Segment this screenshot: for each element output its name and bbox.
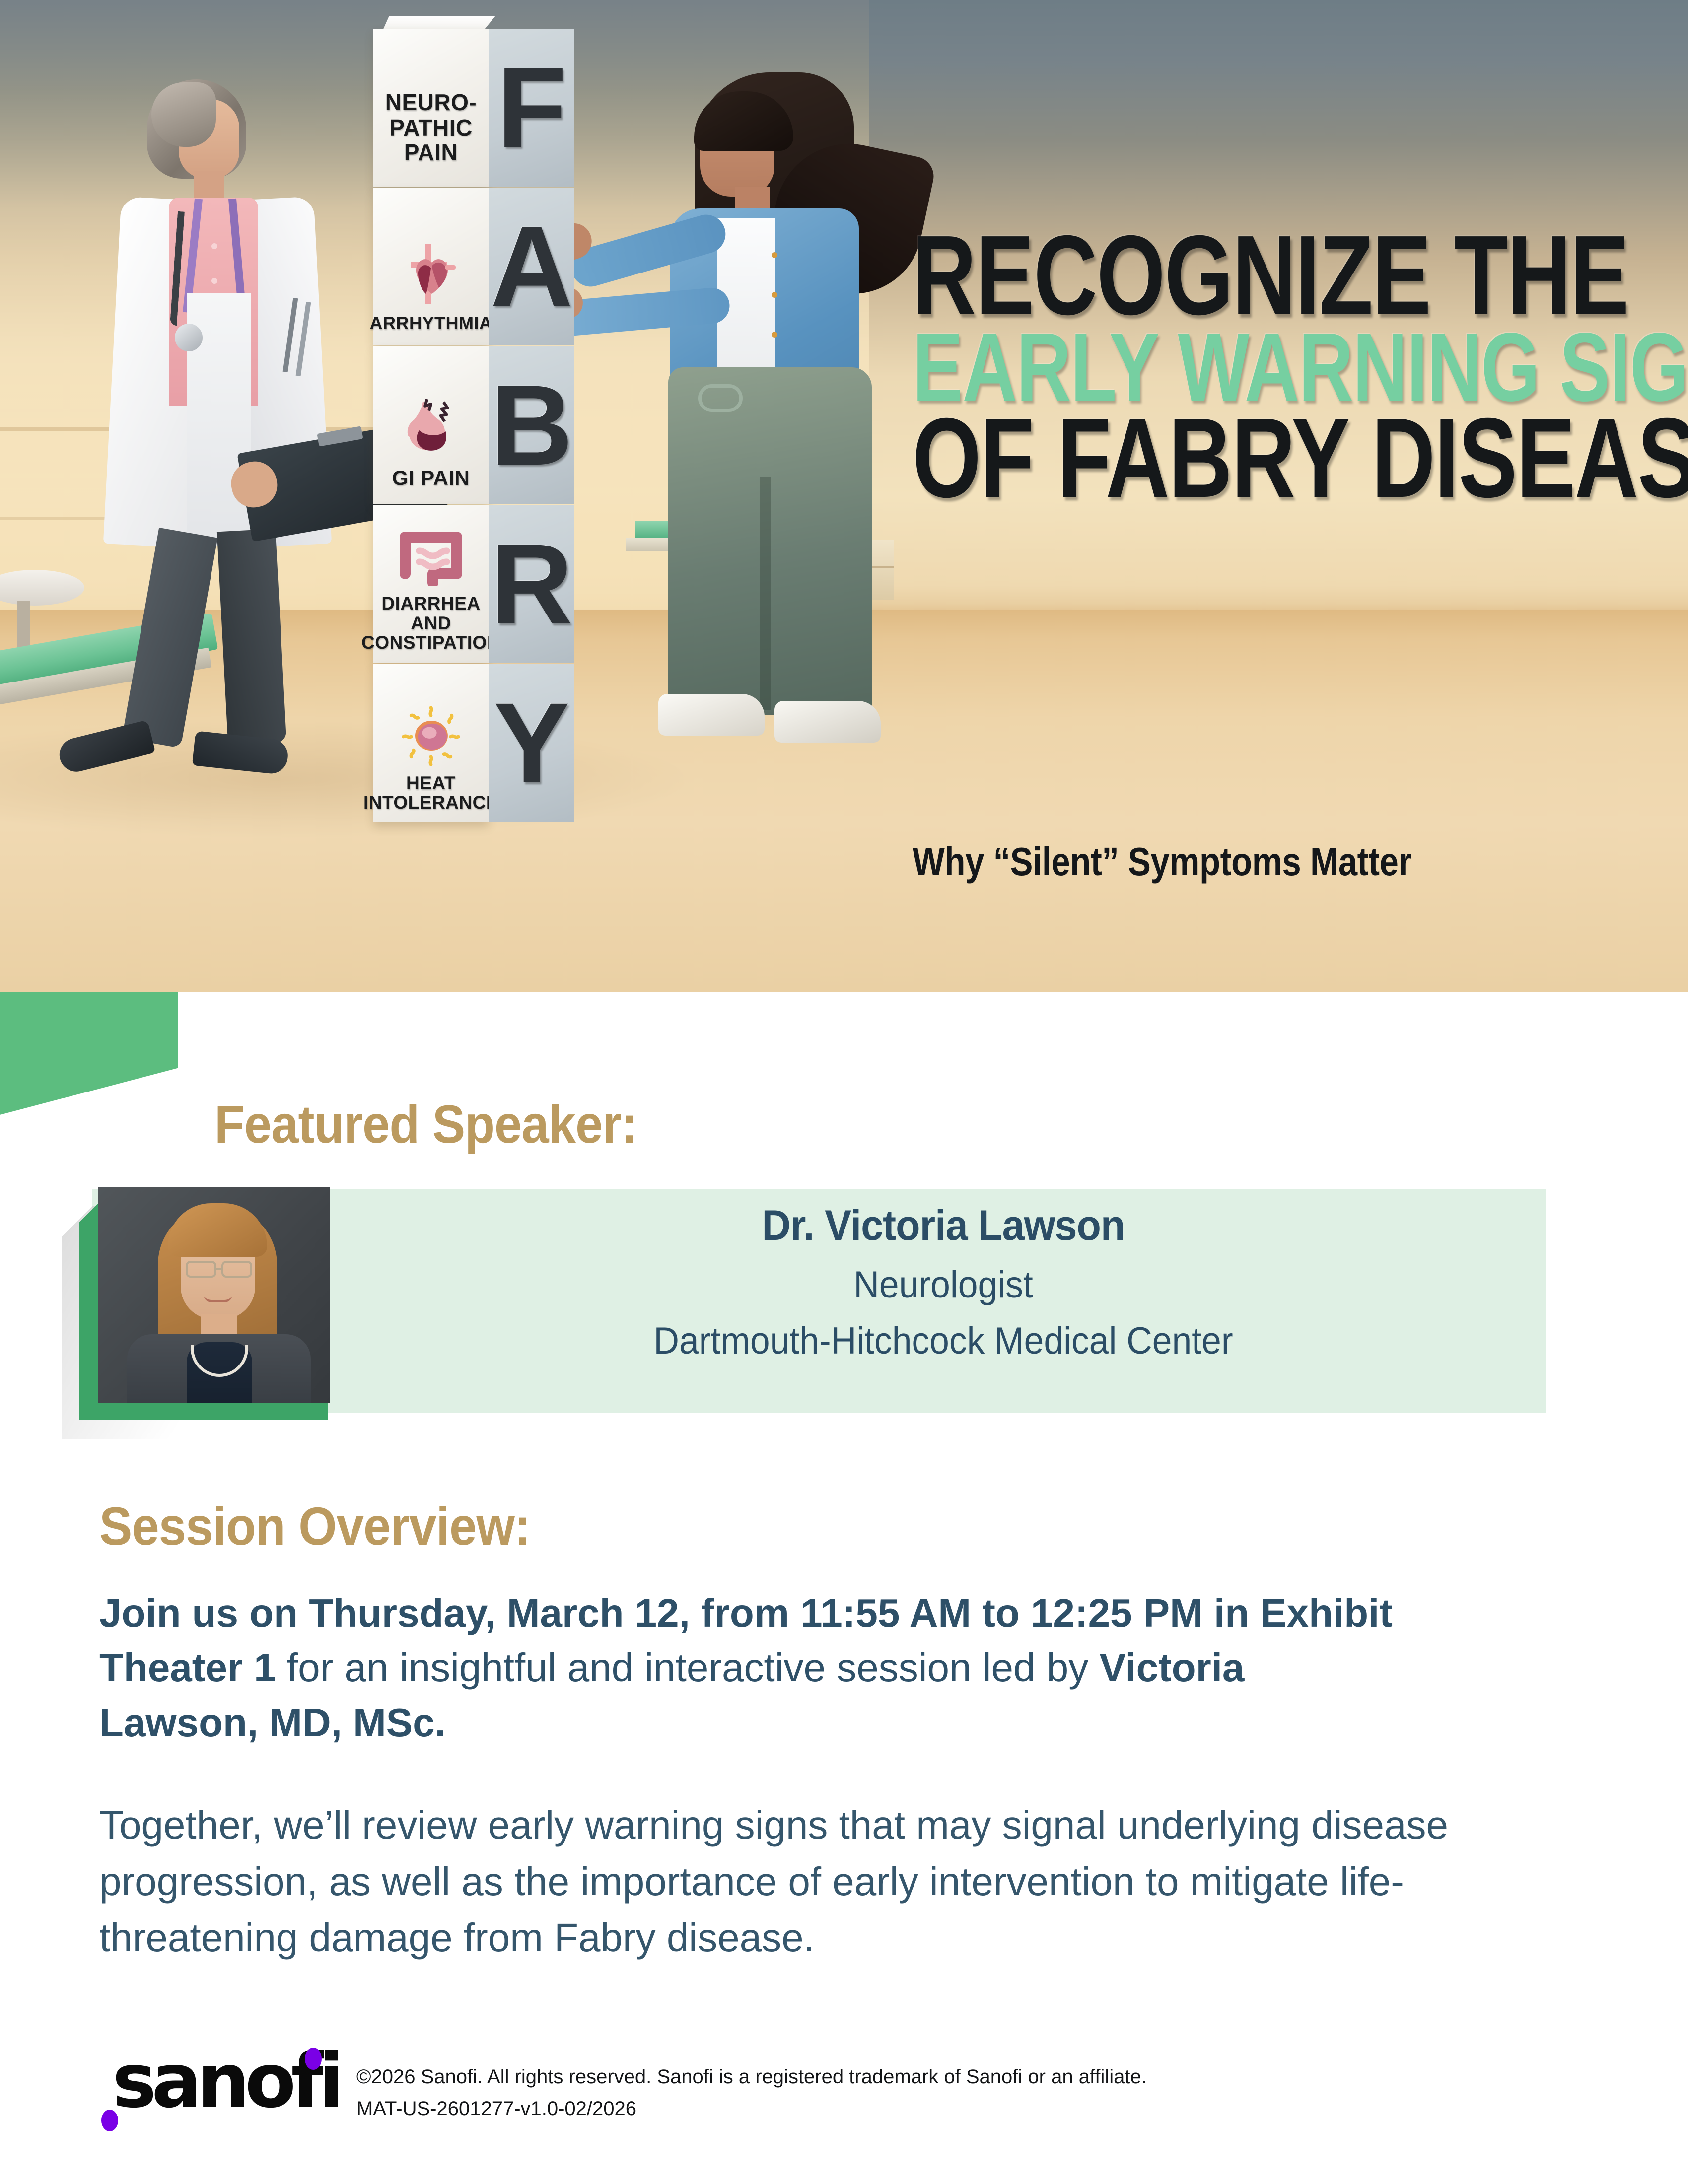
speaker-name: Dr. Victoria Lawson <box>383 1201 1503 1250</box>
green-accent-wedge <box>0 992 178 1115</box>
hero-subheadline: Why “Silent” Symptoms Matter <box>913 839 1411 885</box>
cube-label-r-line2: CONSTIPATION <box>361 633 500 652</box>
copyright-line: ©2026 Sanofi. All rights reserved. Sanof… <box>356 2061 1449 2093</box>
flyer-page: NEURO- PATHIC PAIN F <box>0 0 1688 2184</box>
speaker-organization: Dartmouth-Hitchcock Medical Center <box>383 1319 1503 1363</box>
session-overview-paragraph-2: Together, we’ll review early warning sig… <box>99 1797 1489 1966</box>
session-overview-paragraph-1: Join us on Thursday, March 12, from 11:5… <box>99 1586 1400 1750</box>
intestine-icon <box>396 516 466 594</box>
material-code: MAT-US-2601277-v1.0-02/2026 <box>356 2093 1449 2124</box>
session-details-mid: for an insightful and interactive sessio… <box>276 1645 1100 1690</box>
featured-speaker-label: Featured Speaker: <box>214 1093 637 1155</box>
headline-line-1: RECOGNIZE THE <box>913 228 1416 324</box>
hero-image: NEURO- PATHIC PAIN F <box>0 0 1688 992</box>
cube-letter-a: A <box>491 209 572 324</box>
patient-figure <box>611 69 928 824</box>
speaker-headshot <box>98 1187 330 1403</box>
speaker-details: Dr. Victoria Lawson Neurologist Dartmout… <box>348 1201 1539 1363</box>
cube-r: DIARRHEA AND CONSTIPATION R <box>373 505 532 663</box>
cube-label-a: ARRHYTHMIA <box>370 314 492 333</box>
fabry-cube-stack: NEURO- PATHIC PAIN F <box>373 29 607 833</box>
legal-text: ©2026 Sanofi. All rights reserved. Sanof… <box>356 2061 1449 2124</box>
cube-letter-y: Y <box>493 686 568 800</box>
cube-letter-f: F <box>497 51 566 165</box>
sanofi-logo: sanofi <box>97 2039 346 2133</box>
cube-label-f-line1: NEURO- <box>385 90 477 115</box>
cube-f: NEURO- PATHIC PAIN F <box>373 29 532 187</box>
clinician-figure <box>30 79 338 814</box>
cube-label-f-line2: PATHIC <box>389 116 472 140</box>
sun-sweat-icon <box>396 699 466 773</box>
speaker-role: Neurologist <box>383 1263 1503 1306</box>
cube-label-b: GI PAIN <box>392 467 470 489</box>
cube-label-r-line1: DIARRHEA AND <box>373 594 489 632</box>
cube-label-y-line2: INTOLERANCE <box>363 793 498 812</box>
cube-a: ARRHYTHMIA A <box>373 188 532 345</box>
heart-icon <box>396 239 466 314</box>
cube-letter-r: R <box>491 527 572 641</box>
cube-b: GI PAIN B <box>373 346 532 504</box>
logo-dot-upper-icon <box>305 2048 322 2070</box>
cube-y: HEAT INTOLERANCE Y <box>373 664 532 822</box>
stomach-icon <box>396 393 466 467</box>
cube-label-f-line3: PAIN <box>404 140 458 165</box>
headline-line-3: OF FABRY DISEASE: <box>913 411 1416 506</box>
cube-label-y-line1: HEAT <box>406 773 456 793</box>
session-overview-label: Session Overview: <box>99 1495 530 1557</box>
cube-letter-b: B <box>491 368 572 482</box>
hero-headline: RECOGNIZE THE EARLY WARNING SIGNS OF FAB… <box>913 228 1558 506</box>
